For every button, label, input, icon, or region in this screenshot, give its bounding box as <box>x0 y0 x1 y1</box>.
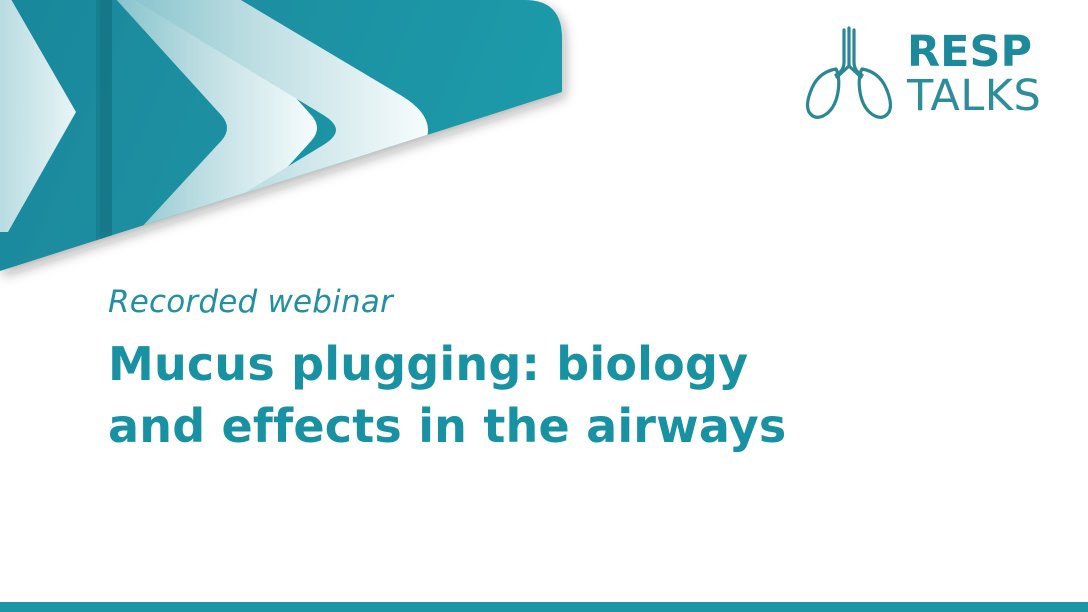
banner-chevrons <box>0 0 452 300</box>
eyebrow-label: Recorded webinar <box>108 286 1008 319</box>
page-title: Mucus plugging: biology and effects in t… <box>108 333 1008 458</box>
slide-canvas: RESP TALKS Recorded webinar Mucus pluggi… <box>0 0 1088 612</box>
banner-panel <box>0 0 562 271</box>
banner-fold-line <box>96 0 100 300</box>
chevron-main <box>104 0 317 268</box>
resp-talks-logo[interactable]: RESP TALKS <box>795 18 1040 130</box>
logo-wordmark: RESP TALKS <box>907 31 1041 116</box>
footer-accent-bar <box>0 602 1088 612</box>
chevron-upper-stroke <box>108 0 428 130</box>
title-line-1: Mucus plugging: biology <box>108 333 1008 396</box>
banner-seam <box>100 0 112 300</box>
banner-svg <box>0 0 620 300</box>
logo-text-resp: RESP <box>907 31 1041 73</box>
chevron-seam-shade <box>100 0 112 232</box>
chevron-lower-stroke <box>108 130 428 276</box>
chevron-back <box>0 0 76 232</box>
title-line-2: and effects in the airways <box>108 395 1008 458</box>
logo-text-talks: TALKS <box>907 75 1041 117</box>
lungs-icon <box>795 22 903 126</box>
chevron-banner-graphic <box>0 0 620 300</box>
title-text-block: Recorded webinar Mucus plugging: biology… <box>108 286 1008 458</box>
